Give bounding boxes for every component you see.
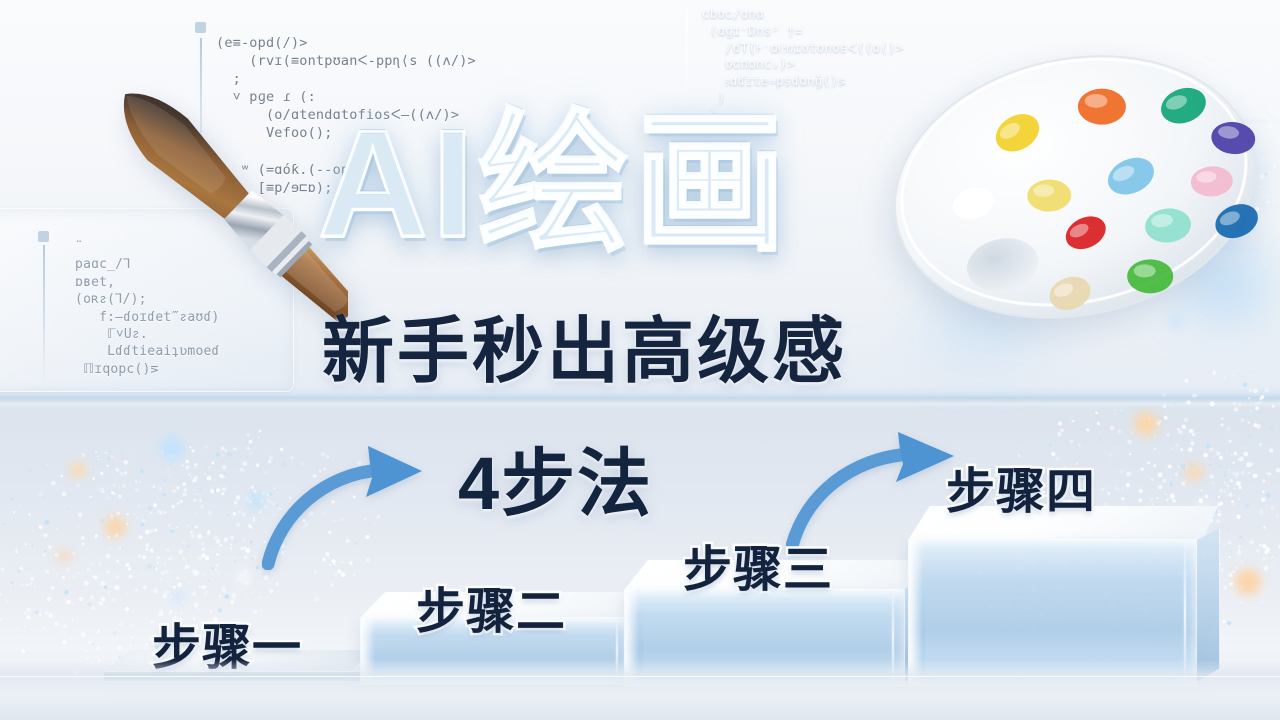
- particle: [15, 550, 18, 553]
- particle: [213, 551, 215, 553]
- particle: [121, 547, 123, 549]
- particle: [1171, 437, 1173, 439]
- particle: [168, 524, 170, 526]
- particle: [197, 534, 202, 539]
- particle: [256, 598, 257, 599]
- particle: [1270, 556, 1272, 558]
- bokeh-light: [171, 590, 185, 604]
- particle: [201, 543, 203, 545]
- particle: [143, 601, 145, 603]
- particle: [1236, 515, 1240, 519]
- particle: [133, 451, 134, 452]
- particle: [92, 477, 95, 480]
- particle: [1219, 456, 1223, 460]
- particle: [178, 550, 183, 555]
- particle: [1233, 452, 1237, 456]
- particle: [238, 510, 241, 513]
- particle: [47, 465, 48, 466]
- particle: [191, 449, 194, 452]
- particle: [1166, 499, 1169, 502]
- step-label-4: 步骤四: [946, 452, 1096, 523]
- particle: [183, 496, 186, 499]
- particle: [1251, 489, 1252, 490]
- particle: [125, 563, 129, 567]
- particle: [72, 603, 74, 605]
- particle: [177, 502, 180, 505]
- particle: [135, 589, 138, 592]
- particle: [164, 491, 165, 492]
- particle: [1099, 437, 1102, 440]
- particle: [1219, 489, 1223, 493]
- particle: [1115, 487, 1119, 491]
- particle: [1248, 397, 1250, 399]
- particle: [225, 450, 227, 452]
- particle: [240, 468, 244, 472]
- particle: [168, 467, 169, 468]
- particle: [1171, 448, 1173, 450]
- particle: [1122, 489, 1123, 490]
- particle: [233, 556, 234, 557]
- particle: [119, 472, 123, 476]
- particle: [238, 582, 240, 584]
- particle: [84, 557, 86, 559]
- particle: [1238, 486, 1242, 490]
- particle: [78, 512, 83, 517]
- particle: [1181, 464, 1186, 469]
- particle: [1212, 371, 1216, 375]
- particle: [1217, 451, 1221, 455]
- particle: [38, 492, 43, 497]
- particle: [78, 572, 80, 574]
- particle: [259, 597, 261, 599]
- particle: [94, 576, 98, 580]
- particle: [1147, 439, 1149, 441]
- particle: [100, 472, 103, 475]
- particle: [150, 511, 153, 514]
- particle: [123, 460, 128, 465]
- particle: [72, 552, 75, 555]
- particle: [160, 578, 164, 582]
- particle: [81, 453, 83, 455]
- particle: [1237, 432, 1238, 433]
- particle: [94, 537, 96, 539]
- particle: [1239, 456, 1244, 461]
- particle: [258, 570, 262, 574]
- particle: [204, 445, 208, 449]
- particle: [190, 476, 193, 479]
- floor-reflection: [0, 660, 1280, 720]
- particle: [1228, 469, 1229, 470]
- particle: [1224, 376, 1227, 379]
- particle: [1107, 492, 1110, 495]
- particle: [194, 463, 198, 467]
- particle: [253, 519, 255, 521]
- particle: [39, 614, 42, 617]
- particle: [1097, 422, 1100, 425]
- particle: [79, 597, 83, 601]
- particle: [1205, 495, 1208, 498]
- particle: [115, 460, 117, 462]
- particle: [149, 487, 152, 490]
- particle: [1255, 406, 1258, 409]
- particle: [26, 615, 30, 619]
- particle: [142, 555, 146, 559]
- particle: [112, 601, 113, 602]
- particle: [208, 580, 210, 582]
- particle: [216, 540, 220, 544]
- particle: [116, 560, 119, 563]
- particle: [233, 447, 236, 450]
- particle: [0, 551, 1, 554]
- particle: [267, 582, 269, 584]
- particle: [1177, 472, 1182, 477]
- particle: [56, 573, 57, 574]
- particle: [214, 479, 216, 481]
- particle: [84, 581, 89, 586]
- bokeh-light: [70, 462, 86, 478]
- particle: [13, 511, 16, 514]
- particle: [1262, 490, 1265, 493]
- particle: [1237, 550, 1242, 555]
- particle: [91, 606, 94, 609]
- particle: [1266, 473, 1268, 475]
- particle: [39, 525, 42, 528]
- particle: [1181, 482, 1185, 486]
- particle: [247, 434, 250, 437]
- particle: [194, 493, 195, 494]
- particle: [138, 505, 141, 508]
- particle: [1220, 502, 1224, 506]
- particle: [1243, 382, 1247, 386]
- particle: [298, 590, 299, 591]
- particle: [1071, 421, 1073, 423]
- particle: [242, 512, 246, 516]
- particle: [1209, 448, 1212, 451]
- particle: [1233, 402, 1236, 405]
- particle: [120, 452, 122, 454]
- particle: [1205, 469, 1207, 471]
- particle: [200, 505, 204, 509]
- particle: [219, 595, 221, 597]
- title-ai: AI: [318, 99, 478, 269]
- particle: [66, 600, 71, 605]
- particle: [1180, 448, 1183, 451]
- particle: [232, 593, 237, 598]
- particle: [106, 497, 109, 500]
- particle: [143, 586, 147, 590]
- particle: [3, 523, 5, 525]
- particle: [153, 503, 157, 507]
- particle: [87, 568, 90, 571]
- particle: [100, 602, 103, 605]
- particle: [183, 488, 186, 491]
- particle: [1137, 471, 1139, 473]
- particle: [116, 575, 119, 578]
- particle: [203, 573, 205, 575]
- particle: [46, 527, 47, 528]
- particle: [146, 548, 149, 551]
- particle: [188, 565, 191, 568]
- particle: [234, 560, 236, 562]
- particle: [240, 547, 243, 550]
- particle: [183, 576, 185, 578]
- particle: [215, 569, 217, 571]
- particle: [216, 452, 220, 456]
- particle: [1221, 417, 1224, 420]
- particle: [145, 543, 149, 547]
- particle: [163, 594, 168, 599]
- poster-canvas: (e≡-opd(/)> (rvɪ(≡ontpʊanᐸ-ppɳ⟨s ((ʌ/)> …: [0, 0, 1280, 720]
- particle: [230, 574, 231, 575]
- particle: [269, 589, 273, 593]
- particle: [190, 531, 193, 534]
- particle: [171, 505, 174, 508]
- particle: [335, 573, 338, 576]
- particle: [81, 632, 86, 637]
- particle: [1233, 462, 1235, 464]
- particle: [76, 483, 80, 487]
- particle: [1256, 549, 1259, 552]
- particle: [116, 637, 119, 640]
- particle: [162, 493, 166, 497]
- particle: [139, 480, 141, 482]
- particle: [258, 430, 260, 432]
- particle: [209, 479, 211, 481]
- particle: [166, 548, 169, 551]
- particle: [237, 506, 238, 507]
- particle: [24, 543, 27, 546]
- particle: [195, 512, 198, 515]
- particle: [81, 536, 84, 539]
- particle: [1047, 415, 1049, 417]
- particle: [256, 566, 259, 569]
- particle: [243, 461, 248, 466]
- particle: [90, 562, 94, 566]
- particle: [1210, 401, 1215, 406]
- particle: [28, 513, 31, 516]
- particle: [184, 567, 186, 569]
- particle: [1208, 462, 1209, 463]
- particle: [1275, 476, 1276, 477]
- particle: [1154, 448, 1156, 450]
- particle: [1121, 497, 1124, 500]
- particle: [1201, 489, 1203, 491]
- particle: [195, 489, 197, 491]
- particle: [167, 469, 169, 471]
- particle: [1152, 503, 1154, 505]
- particle: [1172, 499, 1176, 503]
- particle: [224, 473, 226, 475]
- particle: [233, 539, 238, 544]
- particle: [1110, 425, 1115, 430]
- particle: [1233, 488, 1235, 490]
- page-title-glass: AI绘画: [318, 96, 888, 276]
- particle: [1238, 482, 1240, 484]
- bokeh-light: [104, 516, 126, 538]
- particle: [271, 573, 273, 575]
- particle: [199, 499, 202, 502]
- bokeh-light: [1185, 463, 1203, 481]
- bokeh-light: [238, 572, 250, 584]
- particle: [76, 525, 79, 528]
- particle: [186, 544, 190, 548]
- particle: [210, 489, 214, 493]
- particle: [1230, 479, 1233, 482]
- particle: [155, 567, 158, 570]
- particle: [1213, 456, 1214, 457]
- particle: [124, 471, 127, 474]
- particle: [1235, 477, 1237, 479]
- particle: [145, 530, 149, 534]
- particle: [249, 440, 253, 444]
- particle: [1255, 402, 1257, 404]
- particle: [62, 640, 66, 644]
- particle: [1126, 483, 1130, 487]
- particle: [1104, 452, 1106, 454]
- particle: [1256, 424, 1261, 429]
- particle: [157, 562, 159, 564]
- particle: [1238, 403, 1242, 407]
- particle: [182, 483, 185, 486]
- particle: [38, 636, 40, 638]
- particle: [1113, 409, 1116, 412]
- particle: [1154, 436, 1156, 438]
- particle: [1219, 465, 1222, 468]
- particle: [31, 529, 34, 532]
- particle: [119, 622, 123, 626]
- particle: [31, 508, 32, 509]
- bokeh-light: [57, 549, 71, 563]
- particle: [1163, 405, 1166, 408]
- particle: [105, 452, 107, 454]
- particle: [89, 466, 91, 468]
- particle: [1140, 467, 1143, 470]
- particle: [51, 586, 55, 590]
- particle: [119, 564, 121, 566]
- particle: [194, 593, 196, 595]
- particle: [1272, 405, 1275, 408]
- particle: [1163, 394, 1166, 397]
- particle: [1070, 439, 1074, 443]
- particle: [95, 534, 98, 537]
- particle: [102, 491, 104, 493]
- particle: [1248, 541, 1249, 542]
- particle: [51, 480, 56, 485]
- particle: [227, 452, 232, 457]
- particle: [1117, 429, 1122, 434]
- particle: [148, 506, 153, 511]
- particle: [44, 520, 49, 525]
- particle: [1188, 447, 1193, 452]
- particle: [1184, 379, 1188, 383]
- particle: [1170, 482, 1173, 485]
- particle: [164, 590, 168, 594]
- particle: [227, 514, 229, 516]
- particle: [111, 491, 114, 494]
- particle: [176, 526, 178, 528]
- particle: [1243, 452, 1248, 457]
- particle: [48, 545, 51, 548]
- particle: [1156, 497, 1158, 499]
- particle: [1248, 472, 1251, 475]
- particle: [201, 547, 205, 551]
- particle: [35, 611, 38, 614]
- particle: [1253, 541, 1255, 543]
- arrow-step1-to-step2-icon: [262, 440, 442, 570]
- particle: [1095, 412, 1098, 415]
- particle: [110, 451, 112, 453]
- particle: [250, 540, 253, 543]
- particle: [1114, 458, 1116, 460]
- particle: [24, 626, 26, 628]
- particle: [222, 488, 225, 491]
- particle: [314, 570, 317, 573]
- particle: [150, 548, 155, 553]
- particle: [208, 468, 210, 470]
- particle: [105, 606, 107, 608]
- particle: [1263, 526, 1266, 529]
- particle: [1228, 440, 1231, 443]
- particle: [89, 495, 91, 497]
- particle: [234, 501, 238, 505]
- particle: [97, 456, 99, 458]
- particle: [1248, 433, 1252, 437]
- particle: [33, 542, 34, 543]
- particle: [101, 597, 106, 602]
- particle: [207, 504, 209, 506]
- particle: [194, 602, 199, 607]
- particle: [1266, 493, 1270, 497]
- particle: [1237, 459, 1239, 461]
- particle: [176, 486, 179, 489]
- particle: [1264, 388, 1269, 393]
- particle: [1175, 443, 1179, 447]
- particle: [1216, 451, 1217, 452]
- particle: [1241, 602, 1243, 604]
- particle: [1138, 489, 1143, 494]
- particle: [1159, 415, 1164, 420]
- particle: [1260, 395, 1264, 399]
- particle: [137, 518, 138, 519]
- particle: [19, 566, 23, 570]
- particle: [1177, 428, 1180, 431]
- particle: [1248, 422, 1250, 424]
- particle: [1261, 401, 1262, 402]
- particle: [64, 632, 68, 636]
- particle: [1184, 417, 1189, 422]
- particle: [1223, 403, 1225, 405]
- particle: [240, 588, 243, 591]
- particle: [1119, 469, 1123, 473]
- particle: [1170, 493, 1174, 497]
- particle: [236, 495, 241, 500]
- subtitle: 新手秒出高级感: [322, 292, 847, 397]
- particle: [100, 581, 105, 586]
- palette-blob-orange: [1078, 89, 1126, 125]
- particle: [216, 488, 220, 492]
- particle: [109, 548, 111, 550]
- particle: [1108, 453, 1112, 457]
- particle: [24, 612, 27, 615]
- particle: [126, 523, 129, 526]
- particle: [34, 586, 36, 588]
- particle: [221, 576, 222, 577]
- particle: [1246, 462, 1251, 467]
- particle: [21, 584, 23, 586]
- particle: [1231, 500, 1234, 503]
- particle: [258, 437, 260, 439]
- particle: [183, 541, 185, 543]
